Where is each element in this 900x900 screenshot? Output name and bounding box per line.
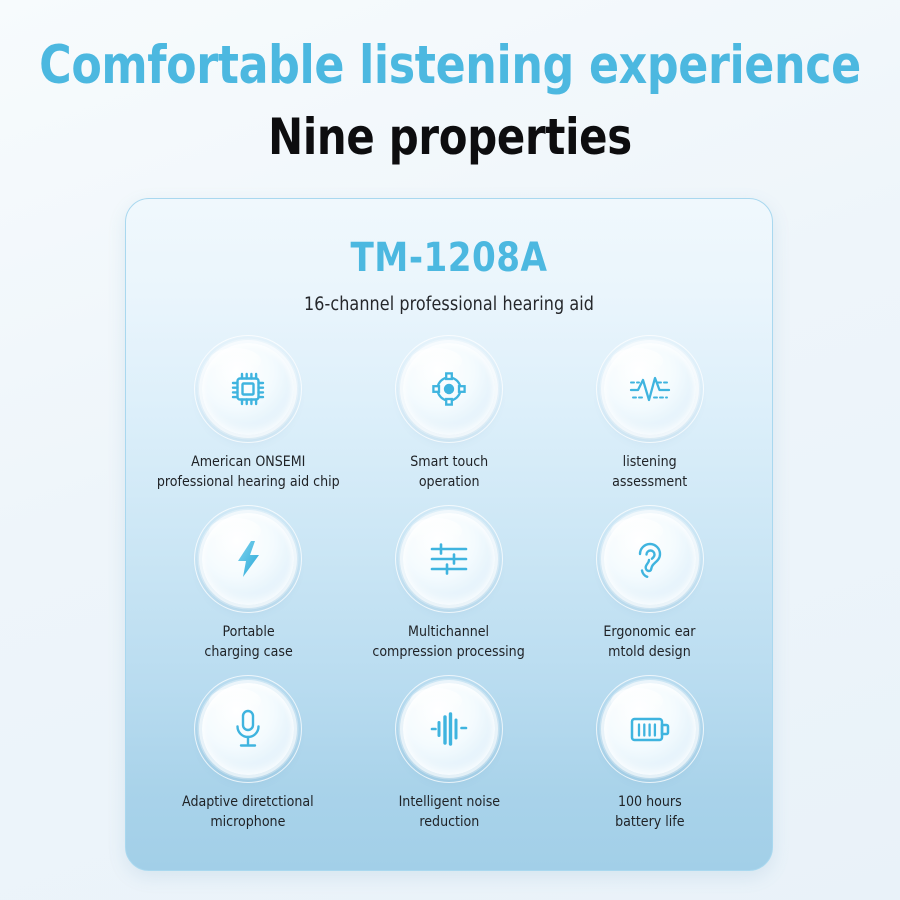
product-tagline: 16-channel professional hearing aid	[139, 294, 759, 315]
feature-item[interactable]: American ONSEMI professional hearing aid…	[148, 343, 349, 513]
feature-item[interactable]: 100 hours battery life	[549, 683, 750, 853]
poster-page: Comfortable listening experience Nine pr…	[0, 0, 900, 900]
feature-label: Multichannel compression processing	[373, 622, 525, 662]
feature-icon-bubble	[202, 683, 294, 775]
product-model-name: TM-1208A	[142, 235, 756, 281]
feature-item[interactable]: Adaptive diretctional microphone	[148, 683, 349, 853]
feature-label: 100 hours battery life	[615, 792, 684, 832]
feature-icon-bubble	[604, 343, 696, 435]
product-card: TM-1208A 16-channel professional hearing…	[125, 198, 773, 871]
feature-item[interactable]: Multichannel compression processing	[349, 513, 550, 683]
chip-icon	[227, 368, 269, 410]
feature-item[interactable]: Smart touch operation	[349, 343, 550, 513]
waveform-pulse-icon	[627, 369, 673, 409]
feature-label: Intelligent noise reduction	[398, 792, 500, 832]
audio-bars-icon	[427, 708, 471, 750]
feature-icon-bubble	[403, 683, 495, 775]
page-title: Comfortable listening experience	[32, 38, 869, 94]
ear-icon	[632, 537, 668, 581]
feature-item[interactable]: Ergonomic ear mtold design	[549, 513, 750, 683]
feature-grid: American ONSEMI professional hearing aid…	[126, 343, 772, 853]
feature-item[interactable]: Portable charging case	[148, 513, 349, 683]
feature-item[interactable]: Intelligent noise reduction	[349, 683, 550, 853]
feature-icon-bubble	[202, 343, 294, 435]
feature-label: Smart touch operation	[410, 452, 488, 492]
feature-icon-bubble	[403, 513, 495, 605]
feature-label: American ONSEMI professional hearing aid…	[157, 452, 340, 492]
feature-icon-bubble	[202, 513, 294, 605]
sliders-icon	[427, 540, 471, 578]
feature-label: listening assessment	[612, 452, 687, 492]
microphone-icon	[231, 707, 265, 751]
feature-label: Portable charging case	[204, 622, 292, 662]
feature-icon-bubble	[403, 343, 495, 435]
lightning-bolt-icon	[229, 537, 267, 581]
feature-item[interactable]: listening assessment	[549, 343, 750, 513]
touch-target-icon	[428, 368, 470, 410]
battery-icon	[627, 711, 673, 747]
page-subtitle: Nine properties	[32, 110, 869, 165]
feature-label: Adaptive diretctional microphone	[183, 792, 315, 832]
feature-icon-bubble	[604, 513, 696, 605]
feature-label: Ergonomic ear mtold design	[604, 622, 696, 662]
feature-icon-bubble	[604, 683, 696, 775]
header-block: Comfortable listening experience Nine pr…	[0, 0, 900, 165]
